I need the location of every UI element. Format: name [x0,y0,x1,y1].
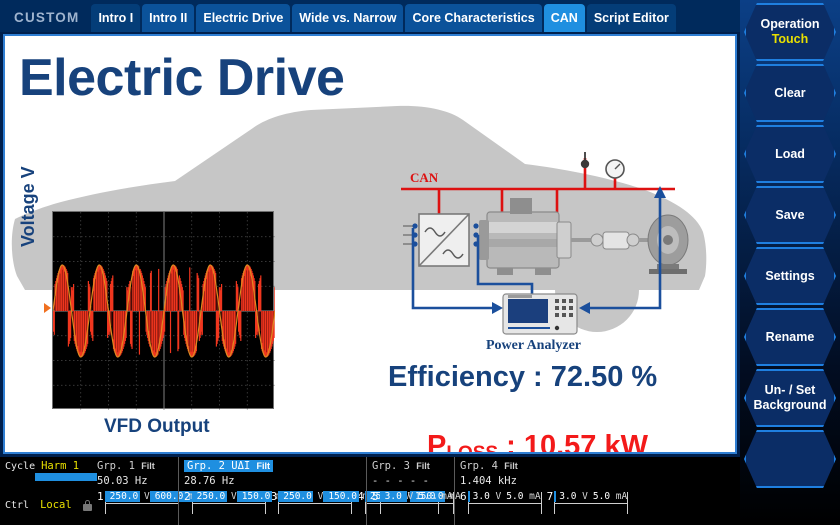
status-group-2: Grp. 2 UΔI Filt28.76 Hz2250.0 V150.0 mA3… [178,457,366,525]
status-channel-6-bars: 3.0 V5.0 mA [468,491,542,502]
sidebar-button-operation[interactable]: Operation Touch [744,3,836,61]
sidebar-button-settings-label: Settings [765,269,814,284]
waveform-y-axis-label: Voltage V [18,166,39,247]
status-group-1-frequency: 50.03 Hz [97,475,174,487]
waveform-svg [53,212,275,410]
sidebar-button-load[interactable]: Load [744,125,836,183]
status-groups: Grp. 1 Filt50.03 Hz1250.0 V600.0 mAGrp. … [92,457,640,525]
sidebar-button-rename[interactable]: Rename [744,308,836,366]
status-channel-6[interactable]: 63.0 V5.0 mA [460,490,542,503]
sidebar-button-set-background[interactable]: Un- / Set Background [744,369,836,427]
status-group-2-title[interactable]: Grp. 2 UΔI Filt [184,460,273,472]
status-channel-5-voltage: 3.0 V [380,491,414,502]
page-title: Electric Drive [19,48,344,108]
status-channel-5[interactable]: 53.0 V5.0 mA [372,490,454,503]
custom-label: CUSTOM [0,10,91,32]
ctrl-label: Ctrl [5,500,29,511]
power-analyzer-label: Power Analyzer [486,338,581,353]
status-channel-1-bars: 250.0 V600.0 mA [105,491,179,502]
power-analyzer-device [503,294,577,334]
status-channel-1[interactable]: 1250.0 V600.0 mA [97,490,179,503]
application-window: CUSTOM Intro I Intro II Electric Drive W… [0,0,840,525]
sidebar-button-save[interactable]: Save [744,186,836,244]
sidebar-button-load-label: Load [775,147,805,162]
status-channel-6-voltage: 3.0 V [468,491,502,502]
efficiency-readout: Efficiency : 72.50 % [388,361,657,394]
status-group-1-title[interactable]: Grp. 1 Filt [97,460,174,472]
status-group-4: Grp. 4 Filt1.404 kHz63.0 V5.0 mA73.0 V5.… [454,457,640,525]
tab-wide-vs-narrow[interactable]: Wide vs. Narrow [292,4,403,32]
sidebar-button-operation-label: Operation [760,17,819,32]
inverter-symbol [419,214,469,266]
status-group-4-channels: 63.0 V5.0 mA73.0 V5.0 mA [460,490,636,503]
sidebar-button-clear-label: Clear [774,86,805,101]
status-ctrl-row: Ctrl Local [5,499,92,511]
ctrl-value[interactable]: Local [40,499,72,511]
status-group-3-channels: 53.0 V5.0 mA [372,490,450,503]
status-channel-1-voltage: 250.0 V [105,491,150,502]
status-group-1: Grp. 1 Filt50.03 Hz1250.0 V600.0 mA [92,457,178,525]
waveform-x-axis-label: VFD Output [104,416,210,438]
status-group-4-frequency: 1.404 kHz [460,475,636,487]
tab-intro-ii[interactable]: Intro II [142,4,194,32]
can-label: CAN [410,170,439,185]
status-channel-2-bars: 250.0 V150.0 mA [192,491,266,502]
status-channel-3-voltage: 250.0 V [278,491,323,502]
main-panel: CAN [3,34,737,454]
sidebar-button-empty[interactable] [744,430,836,488]
sidebar: Operation Touch Clear Load Save Settings… [740,0,840,525]
sidebar-button-operation-sub: Touch [772,32,809,47]
status-channel-7[interactable]: 73.0 V5.0 mA [547,490,629,503]
status-channel-7-voltage: 3.0 V [554,491,588,502]
tab-can[interactable]: CAN [544,4,585,32]
status-channel-3[interactable]: 3250.0 V150.0 mA [271,490,353,503]
status-cycle-group: Cycle Harm 1 Ctrl Local [0,457,92,525]
can-sensor-icons [581,152,624,178]
status-group-2-frequency: 28.76 Hz [184,475,362,487]
sidebar-button-settings[interactable]: Settings [744,247,836,305]
harmonic-bar [35,473,97,481]
tab-intro-i[interactable]: Intro I [91,4,140,32]
tab-electric-drive[interactable]: Electric Drive [196,4,290,32]
status-channel-2-voltage: 250.0 V [192,491,237,502]
status-group-1-channels: 1250.0 V600.0 mA [97,490,174,503]
tab-script-editor[interactable]: Script Editor [587,4,676,32]
lock-icon[interactable] [83,500,92,511]
sidebar-button-set-background-label: Un- / Set Background [754,383,827,413]
tab-bar: CUSTOM Intro I Intro II Electric Drive W… [0,0,740,32]
status-channel-1-number: 1 [97,490,104,503]
status-channel-6-number: 6 [460,490,467,503]
status-channel-5-bars: 3.0 V5.0 mA [380,491,454,502]
status-group-3-frequency: - - - - - [372,475,450,487]
status-channel-7-current: 5.0 mA [588,491,627,502]
tab-core-characteristics[interactable]: Core Characteristics [405,4,541,32]
status-channel-2[interactable]: 2250.0 V150.0 mA [184,490,266,503]
ploss-value: : 10.57 kW [498,430,648,454]
status-channel-6-current: 5.0 mA [501,491,540,502]
trigger-marker-icon [44,303,51,313]
waveform-plot-area[interactable] [52,211,274,409]
status-channel-7-number: 7 [547,490,554,503]
status-group-2-channels: 2250.0 V150.0 mA3250.0 V150.0 mA4250.0 V… [184,490,362,503]
sidebar-button-rename-label: Rename [766,330,815,345]
sidebar-button-save-label: Save [775,208,804,223]
cycle-value[interactable]: Harm 1 [41,460,79,472]
waveform-chart: Voltage V [52,211,292,441]
status-bar: Cycle Harm 1 Ctrl Local Grp. 1 Filt50.03… [0,457,740,525]
status-channel-7-bars: 3.0 V5.0 mA [554,491,628,502]
sidebar-button-clear[interactable]: Clear [744,64,836,122]
status-channel-3-bars: 250.0 V150.0 mA [278,491,352,502]
status-group-3: Grp. 3 Filt- - - - -53.0 V5.0 mA [366,457,454,525]
ploss-prefix: P [427,430,446,454]
status-channel-5-current: 5.0 mA [413,491,452,502]
status-group-3-title[interactable]: Grp. 3 Filt [372,460,450,472]
cycle-label: Cycle [5,461,35,472]
ploss-subscript: LOSS [446,443,498,454]
status-group-4-title[interactable]: Grp. 4 Filt [460,460,636,472]
status-channel-2-number: 2 [184,490,191,503]
status-channel-5-number: 5 [372,490,379,503]
power-loss-readout: PLOSS : 10.57 kW [427,430,648,454]
